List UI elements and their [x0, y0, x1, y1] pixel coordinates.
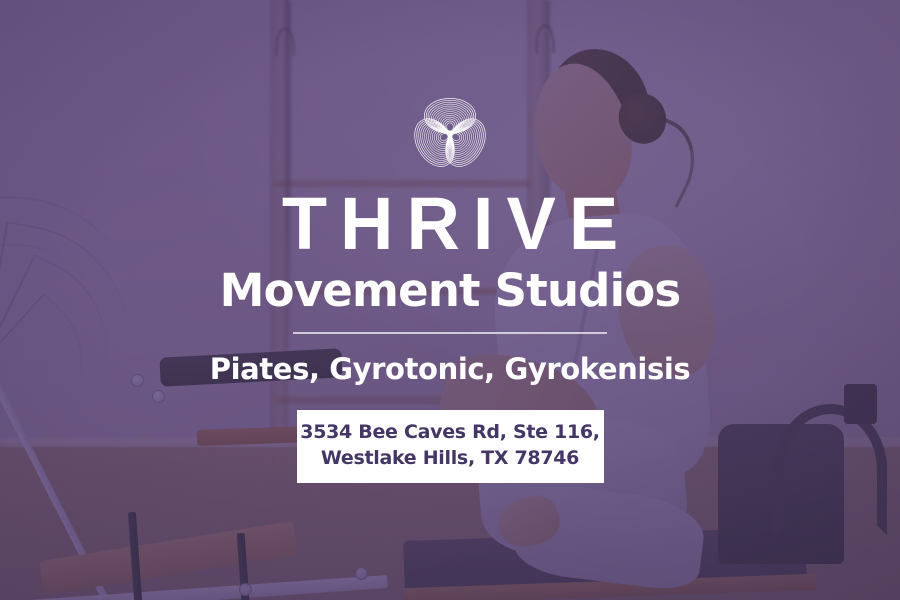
address-box: 3534 Bee Caves Rd, Ste 116, Westlake Hil… — [297, 410, 604, 483]
address-line-1: 3534 Bee Caves Rd, Ste 116, — [300, 420, 599, 446]
address-line-2: Westlake Hills, TX 78746 — [321, 446, 579, 472]
brand-lockup: THRIVE Movement Studios Piates, Gyrotoni… — [0, 0, 900, 600]
studio-promo-banner: THRIVE Movement Studios Piates, Gyrotoni… — [0, 0, 900, 600]
trefoil-knot-logo-icon — [398, 86, 502, 178]
services-tagline: Piates, Gyrotonic, Gyrokenisis — [210, 352, 690, 386]
brand-name: THRIVE — [269, 192, 631, 256]
brand-subtitle: Movement Studios — [220, 268, 681, 313]
divider-rule — [293, 332, 607, 334]
